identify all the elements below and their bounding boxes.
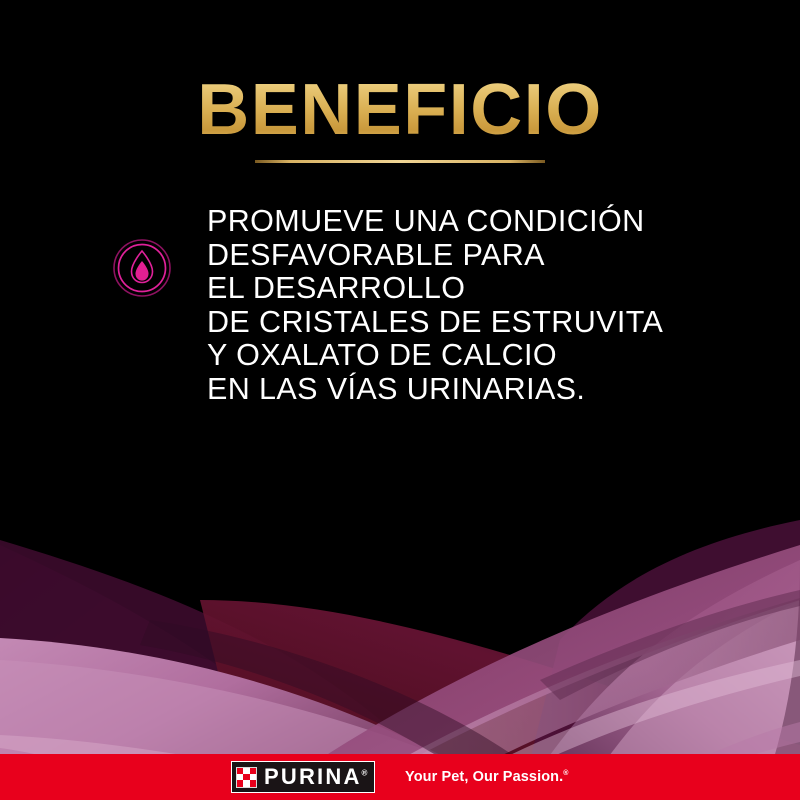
benefit-line: EL DESARROLLO [207,272,787,306]
purina-logo: PURINA® [231,761,375,793]
tagline-registered-icon: ® [563,770,568,777]
checker-cell [250,780,256,786]
purina-wordmark: PURINA® [264,766,367,788]
benefit-row: PROMUEVE UNA CONDICIÓN DESFAVORABLE PARA… [0,205,800,465]
footer-brand-bar: PURINA® Your Pet, Our Passion.® [0,754,800,800]
title-block: BENEFICIO [0,74,800,146]
poster-canvas: BENEFICIO PROMUEVE UNA CONDICIÓN DESFAVO… [0,0,800,800]
benefit-line: EN LAS VÍAS URINARIAS. [207,373,787,407]
purina-wordmark-text: PURINA [264,764,362,789]
benefit-line: Y OXALATO DE CALCIO [207,339,787,373]
title-underline-rule [255,160,545,163]
purina-checkerboard-icon [236,767,257,788]
benefit-text-block: PROMUEVE UNA CONDICIÓN DESFAVORABLE PARA… [207,205,787,406]
droplet-flame-icon [113,239,171,297]
registered-trademark-icon: ® [362,769,368,778]
benefit-line: DESFAVORABLE PARA [207,239,787,273]
benefit-line: PROMUEVE UNA CONDICIÓN [207,205,787,239]
benefit-line: DE CRISTALES DE ESTRUVITA [207,306,787,340]
purina-tagline: Your Pet, Our Passion.® [405,769,569,785]
page-title: BENEFICIO [197,74,603,146]
purina-tagline-text: Your Pet, Our Passion. [405,769,563,785]
